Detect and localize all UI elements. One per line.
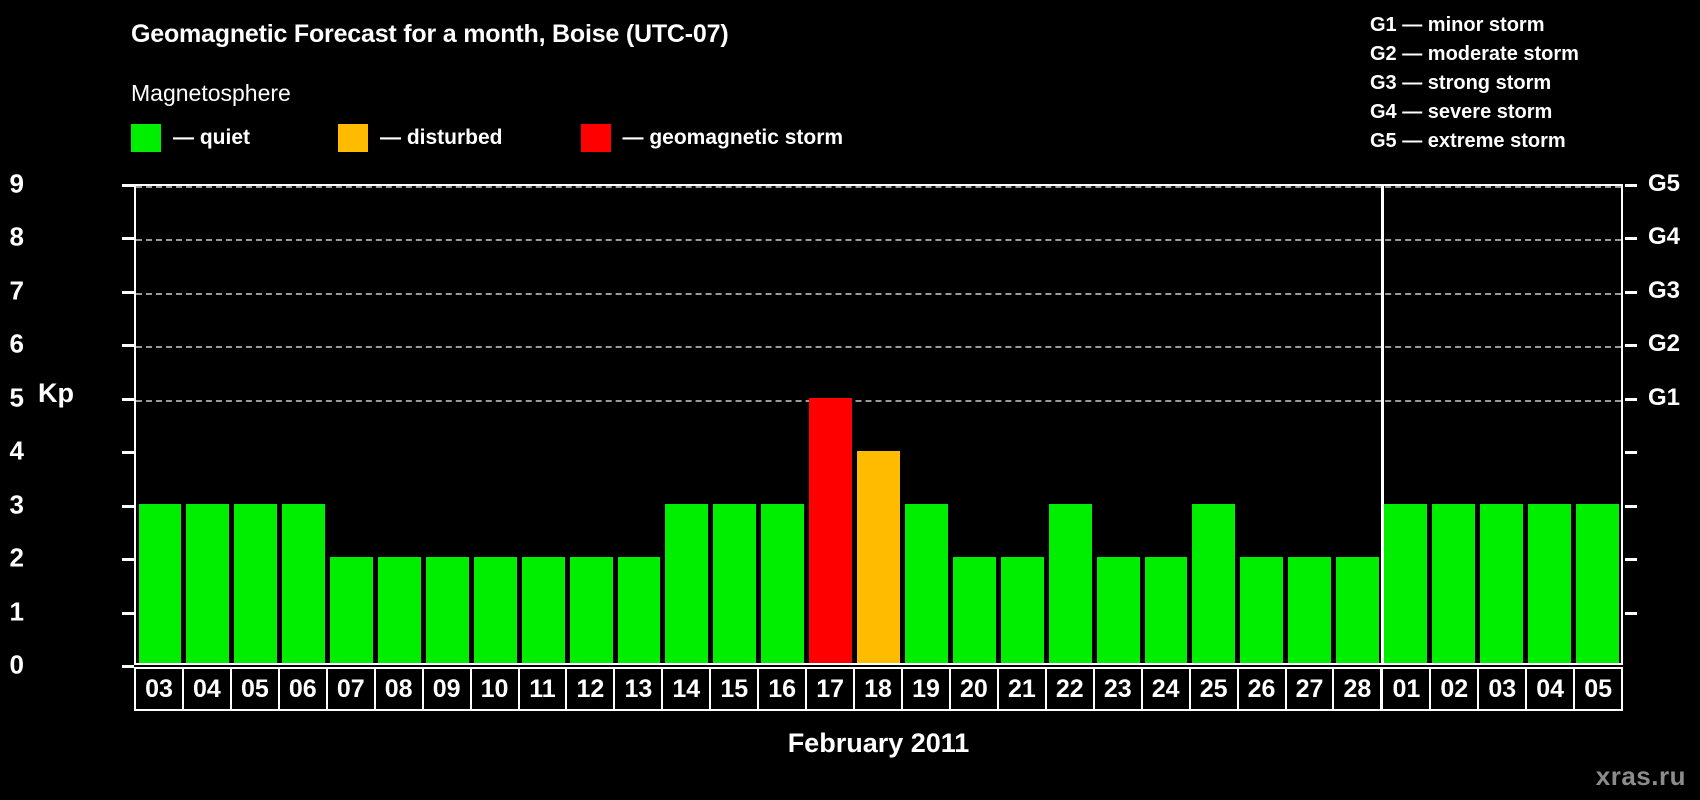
- bar-05[interactable]: [234, 504, 277, 663]
- bar-cell[interactable]: [759, 186, 807, 663]
- bar-27[interactable]: [1288, 557, 1331, 663]
- g-tick-mark-G4: [1625, 237, 1637, 240]
- y-tick-mark-2: [122, 558, 134, 561]
- legend-swatch-storm: [581, 124, 611, 152]
- legend-label-storm: — geomagnetic storm: [623, 126, 844, 150]
- date-label-9: 12: [567, 669, 615, 709]
- date-label-7: 10: [472, 669, 520, 709]
- bar-24[interactable]: [1145, 557, 1188, 663]
- bar-cell[interactable]: [1190, 186, 1238, 663]
- bar-cell[interactable]: [950, 186, 998, 663]
- bar-cell[interactable]: [519, 186, 567, 663]
- bar-cell[interactable]: [1573, 186, 1621, 663]
- bar-01[interactable]: [1384, 504, 1427, 663]
- g-scale-line-2: G2 — moderate storm: [1370, 40, 1690, 69]
- bar-cell[interactable]: [711, 186, 759, 663]
- date-label-15: 18: [855, 669, 903, 709]
- y-axis-title: Kp: [38, 378, 74, 409]
- date-label-29: 04: [1527, 669, 1575, 709]
- g-tick-mark-minor-3: [1625, 505, 1637, 508]
- bar-08[interactable]: [378, 557, 421, 663]
- date-label-21: 24: [1143, 669, 1191, 709]
- chart-root: Geomagnetic Forecast for a month, Boise …: [0, 0, 1700, 800]
- bar-09[interactable]: [426, 557, 469, 663]
- bar-21[interactable]: [1001, 557, 1044, 663]
- legend-label-quiet: — quiet: [173, 126, 250, 150]
- date-label-28: 03: [1479, 669, 1527, 709]
- plot-area: [134, 184, 1623, 665]
- bar-05[interactable]: [1576, 504, 1619, 663]
- y-tick-mark-5: [122, 398, 134, 401]
- date-label-4: 07: [328, 669, 376, 709]
- date-label-22: 25: [1191, 669, 1239, 709]
- g-tick-label-G1: G1: [1648, 384, 1680, 412]
- legend-swatch-quiet: [131, 124, 161, 152]
- g-scale-legend: G1 — minor stormG2 — moderate stormG3 — …: [1370, 11, 1690, 156]
- bar-cell[interactable]: [471, 186, 519, 663]
- legend-swatch-disturbed: [338, 124, 368, 152]
- bar-04[interactable]: [186, 504, 229, 663]
- y-tick-label-5: 5: [0, 382, 24, 413]
- g-tick-mark-G2: [1625, 344, 1637, 347]
- bar-11[interactable]: [522, 557, 565, 663]
- bar-14[interactable]: [665, 504, 708, 663]
- bar-04[interactable]: [1528, 504, 1571, 663]
- y-tick-mark-7: [122, 291, 134, 294]
- bar-cell[interactable]: [423, 186, 471, 663]
- page-title: Geomagnetic Forecast for a month, Boise …: [131, 20, 728, 49]
- y-tick-mark-0: [122, 665, 134, 668]
- date-label-26: 01: [1383, 669, 1431, 709]
- bar-cell[interactable]: [903, 186, 951, 663]
- g-tick-label-G3: G3: [1648, 277, 1680, 305]
- date-label-0: 03: [136, 669, 184, 709]
- bar-cell[interactable]: [1429, 186, 1477, 663]
- bar-25[interactable]: [1192, 504, 1235, 663]
- y-tick-mark-1: [122, 612, 134, 615]
- y-tick-label-6: 6: [0, 329, 24, 360]
- y-tick-mark-4: [122, 451, 134, 454]
- legend-entry-storm: — geomagnetic storm: [581, 123, 844, 153]
- date-label-27: 02: [1431, 669, 1479, 709]
- y-tick-label-3: 3: [0, 489, 24, 520]
- bar-cell[interactable]: [1525, 186, 1573, 663]
- g-tick-label-G4: G4: [1648, 223, 1680, 251]
- date-label-25: 28: [1334, 669, 1383, 709]
- date-label-20: 23: [1095, 669, 1143, 709]
- g-scale-line-1: G1 — minor storm: [1370, 11, 1690, 40]
- date-label-17: 20: [951, 669, 999, 709]
- y-tick-mark-8: [122, 237, 134, 240]
- bar-17[interactable]: [809, 398, 852, 663]
- bar-02[interactable]: [1432, 504, 1475, 663]
- bar-cell[interactable]: [807, 186, 855, 663]
- bar-18[interactable]: [857, 451, 900, 663]
- y-tick-label-7: 7: [0, 275, 24, 306]
- g-scale-line-4: G4 — severe storm: [1370, 98, 1690, 127]
- bar-cell[interactable]: [1477, 186, 1525, 663]
- bar-cell[interactable]: [1094, 186, 1142, 663]
- date-label-6: 09: [424, 669, 472, 709]
- bar-03[interactable]: [1480, 504, 1523, 663]
- g-scale-line-5: G5 — extreme storm: [1370, 127, 1690, 156]
- g-tick-mark-G5: [1625, 184, 1637, 187]
- date-label-11: 14: [663, 669, 711, 709]
- bar-series: [136, 186, 1621, 663]
- legend-entry-quiet: — quiet: [131, 123, 250, 153]
- bar-16[interactable]: [761, 504, 804, 663]
- watermark: xras.ru: [1596, 761, 1686, 792]
- bar-23[interactable]: [1097, 557, 1140, 663]
- month-divider-line: [1381, 186, 1384, 663]
- y-tick-mark-3: [122, 505, 134, 508]
- date-label-24: 27: [1287, 669, 1335, 709]
- bar-cell[interactable]: [1382, 186, 1430, 663]
- y-tick-label-8: 8: [0, 222, 24, 253]
- y-tick-mark-9: [122, 184, 134, 187]
- bar-03[interactable]: [139, 504, 182, 663]
- date-label-16: 19: [903, 669, 951, 709]
- y-tick-label-4: 4: [0, 436, 24, 467]
- legend-label-disturbed: — disturbed: [380, 126, 503, 150]
- bar-cell[interactable]: [136, 186, 184, 663]
- bar-06[interactable]: [282, 504, 325, 663]
- bar-12[interactable]: [570, 557, 613, 663]
- magnetosphere-label: Magnetosphere: [131, 80, 291, 107]
- date-label-13: 16: [759, 669, 807, 709]
- date-label-12: 15: [711, 669, 759, 709]
- bar-10[interactable]: [474, 557, 517, 663]
- bar-cell[interactable]: [1334, 186, 1382, 663]
- date-label-14: 17: [807, 669, 855, 709]
- bar-cell[interactable]: [1142, 186, 1190, 663]
- date-label-3: 06: [280, 669, 328, 709]
- bar-cell[interactable]: [855, 186, 903, 663]
- y-tick-mark-6: [122, 344, 134, 347]
- g-tick-label-G5: G5: [1648, 170, 1680, 198]
- bar-cell[interactable]: [615, 186, 663, 663]
- legend-entry-disturbed: — disturbed: [338, 123, 503, 153]
- bar-19[interactable]: [905, 504, 948, 663]
- date-label-8: 11: [520, 669, 568, 709]
- color-legend: — quiet— disturbed— geomagnetic storm: [131, 123, 843, 153]
- g-tick-label-G2: G2: [1648, 330, 1680, 358]
- bar-22[interactable]: [1049, 504, 1092, 663]
- bar-cell[interactable]: [280, 186, 328, 663]
- date-label-10: 13: [615, 669, 663, 709]
- date-label-19: 22: [1047, 669, 1095, 709]
- bar-13[interactable]: [618, 557, 661, 663]
- g-scale-line-3: G3 — strong storm: [1370, 69, 1690, 98]
- y-tick-label-1: 1: [0, 596, 24, 627]
- x-axis-title: February 2011: [134, 728, 1623, 759]
- g-tick-mark-G1: [1625, 398, 1637, 401]
- bar-cell[interactable]: [376, 186, 424, 663]
- g-tick-mark-minor-1: [1625, 612, 1637, 615]
- bar-26[interactable]: [1240, 557, 1283, 663]
- y-tick-label-0: 0: [0, 650, 24, 681]
- date-label-23: 26: [1239, 669, 1287, 709]
- date-label-1: 04: [184, 669, 232, 709]
- bar-07[interactable]: [330, 557, 373, 663]
- date-label-5: 08: [376, 669, 424, 709]
- bar-cell[interactable]: [328, 186, 376, 663]
- bar-28[interactable]: [1336, 557, 1379, 663]
- bar-cell[interactable]: [567, 186, 615, 663]
- date-label-2: 05: [232, 669, 280, 709]
- date-label-18: 21: [999, 669, 1047, 709]
- bar-cell[interactable]: [1046, 186, 1094, 663]
- y-tick-label-9: 9: [0, 169, 24, 200]
- y-tick-label-2: 2: [0, 543, 24, 574]
- bar-cell[interactable]: [184, 186, 232, 663]
- bar-cell[interactable]: [1286, 186, 1334, 663]
- bar-15[interactable]: [713, 504, 756, 663]
- x-axis-date-labels: 0304050607080910111213141516171819202122…: [134, 667, 1623, 711]
- bar-cell[interactable]: [663, 186, 711, 663]
- bar-cell[interactable]: [1238, 186, 1286, 663]
- g-tick-mark-minor-4: [1625, 451, 1637, 454]
- g-tick-mark-G3: [1625, 291, 1637, 294]
- bar-cell[interactable]: [232, 186, 280, 663]
- date-label-30: 05: [1575, 669, 1621, 709]
- g-tick-mark-minor-2: [1625, 558, 1637, 561]
- bar-20[interactable]: [953, 557, 996, 663]
- bar-cell[interactable]: [998, 186, 1046, 663]
